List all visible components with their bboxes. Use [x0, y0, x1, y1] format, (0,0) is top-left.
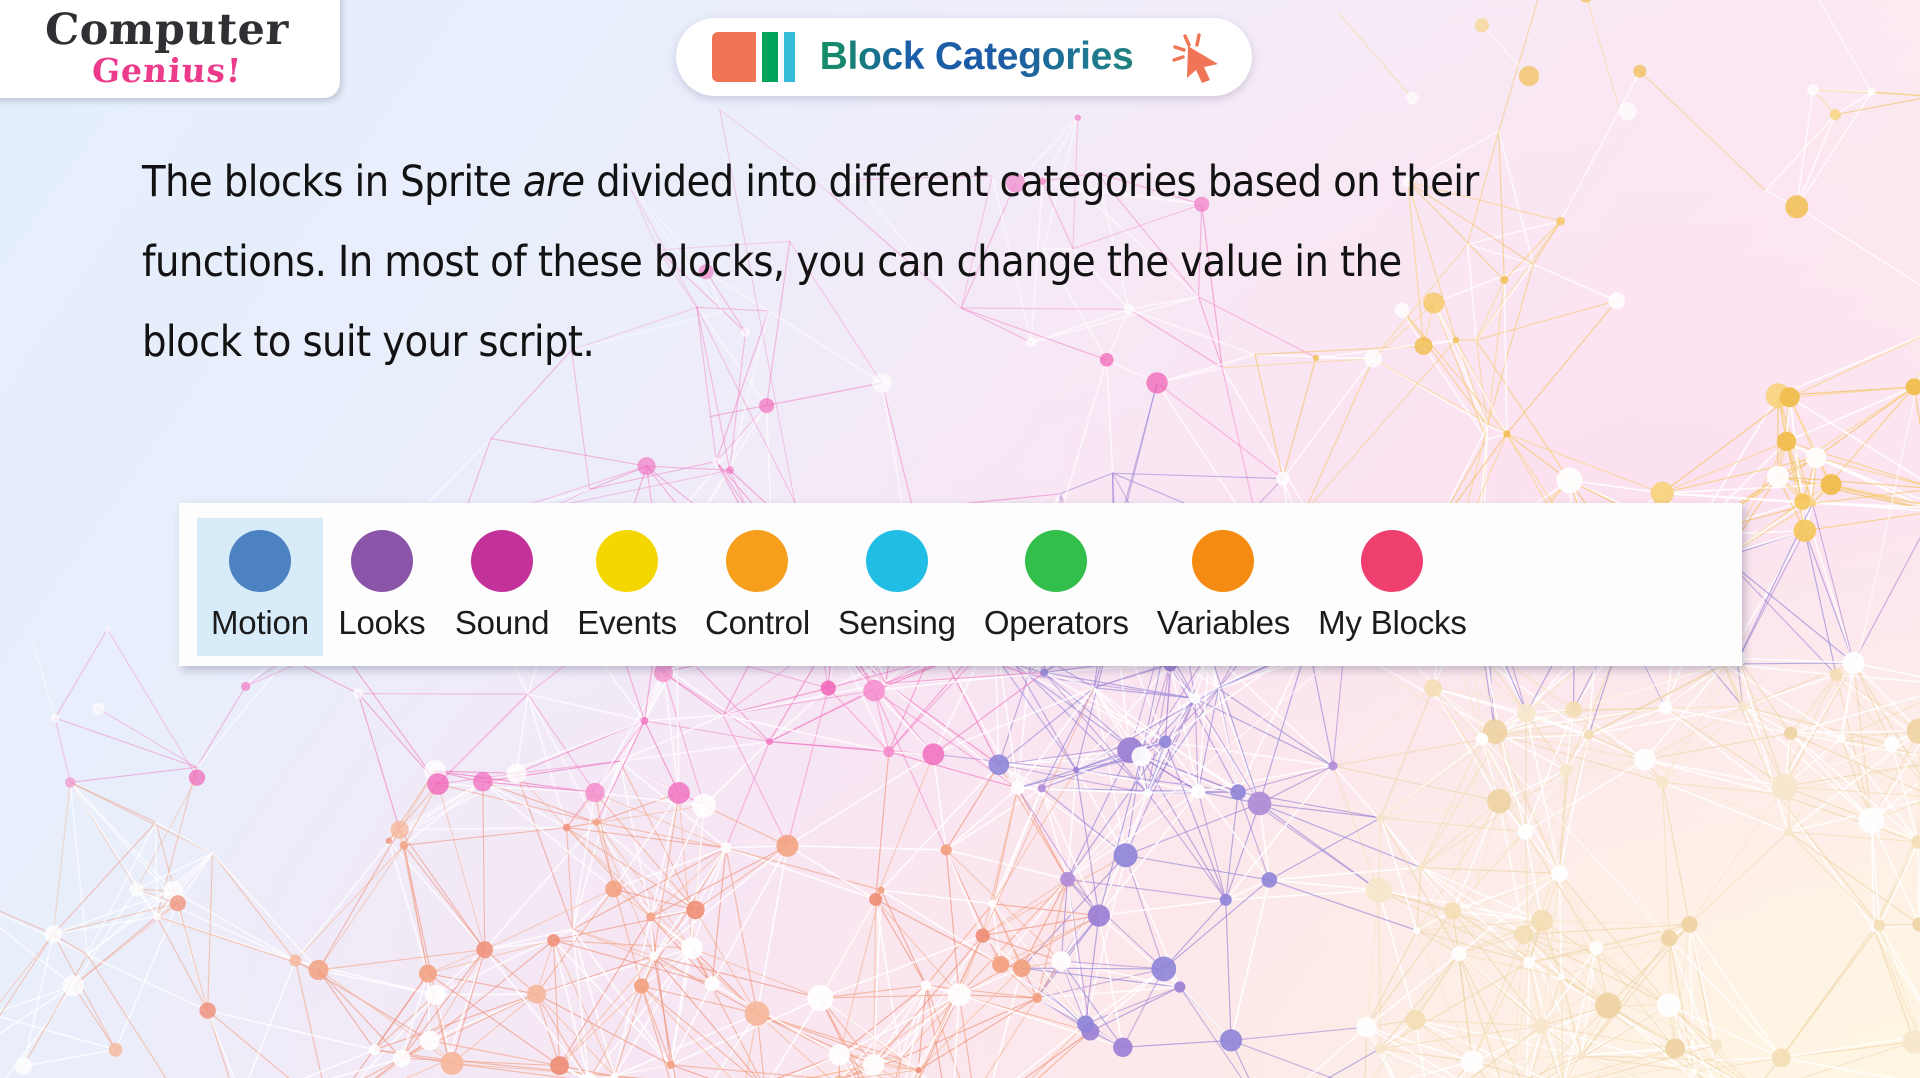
- category-color-dot-icon: [1025, 530, 1087, 592]
- logo-line-computer: Computer: [44, 9, 289, 51]
- body-paragraph-text: The blocks in Sprite are divided into di…: [142, 157, 1479, 367]
- category-label: Events: [577, 604, 677, 642]
- category-label: Operators: [984, 604, 1129, 642]
- bar-green-icon: [762, 32, 778, 82]
- body-emphasis-word: are: [523, 157, 585, 207]
- category-label: Variables: [1157, 604, 1290, 642]
- category-color-dot-icon: [1192, 530, 1254, 592]
- category-item-sensing[interactable]: Sensing: [824, 518, 970, 656]
- blocks-bars-icon: [712, 32, 795, 82]
- bar-orange-icon: [712, 32, 756, 82]
- category-color-dot-icon: [471, 530, 533, 592]
- category-label: My Blocks: [1318, 604, 1467, 642]
- category-item-sound[interactable]: Sound: [441, 518, 563, 656]
- click-cursor-icon: [1168, 30, 1222, 84]
- category-color-dot-icon: [229, 530, 291, 592]
- brand-logo-card: Computer Genius!: [0, 0, 340, 98]
- category-label: Sensing: [838, 604, 956, 642]
- category-item-looks[interactable]: Looks: [323, 518, 441, 656]
- block-categories-panel: MotionLooksSoundEventsControlSensingOper…: [179, 503, 1742, 666]
- category-color-dot-icon: [596, 530, 658, 592]
- body-paragraph: The blocks in Sprite are divided into di…: [142, 142, 1510, 382]
- bar-cyan-icon: [784, 32, 795, 82]
- category-color-dot-icon: [866, 530, 928, 592]
- category-label: Motion: [211, 604, 309, 642]
- category-color-dot-icon: [726, 530, 788, 592]
- page-title: Block Categories: [795, 35, 1168, 79]
- category-color-dot-icon: [1361, 530, 1423, 592]
- category-label: Control: [705, 604, 810, 642]
- category-label: Sound: [455, 604, 549, 642]
- category-item-motion[interactable]: Motion: [197, 518, 323, 656]
- section-title-badge: Block Categories: [676, 18, 1252, 96]
- category-item-variables[interactable]: Variables: [1143, 518, 1304, 656]
- category-item-events[interactable]: Events: [563, 518, 691, 656]
- category-item-operators[interactable]: Operators: [970, 518, 1143, 656]
- logo-line-genius: Genius!: [91, 54, 243, 87]
- category-item-my-blocks[interactable]: My Blocks: [1304, 518, 1481, 656]
- category-label: Looks: [338, 604, 425, 642]
- category-color-dot-icon: [351, 530, 413, 592]
- category-item-control[interactable]: Control: [691, 518, 824, 656]
